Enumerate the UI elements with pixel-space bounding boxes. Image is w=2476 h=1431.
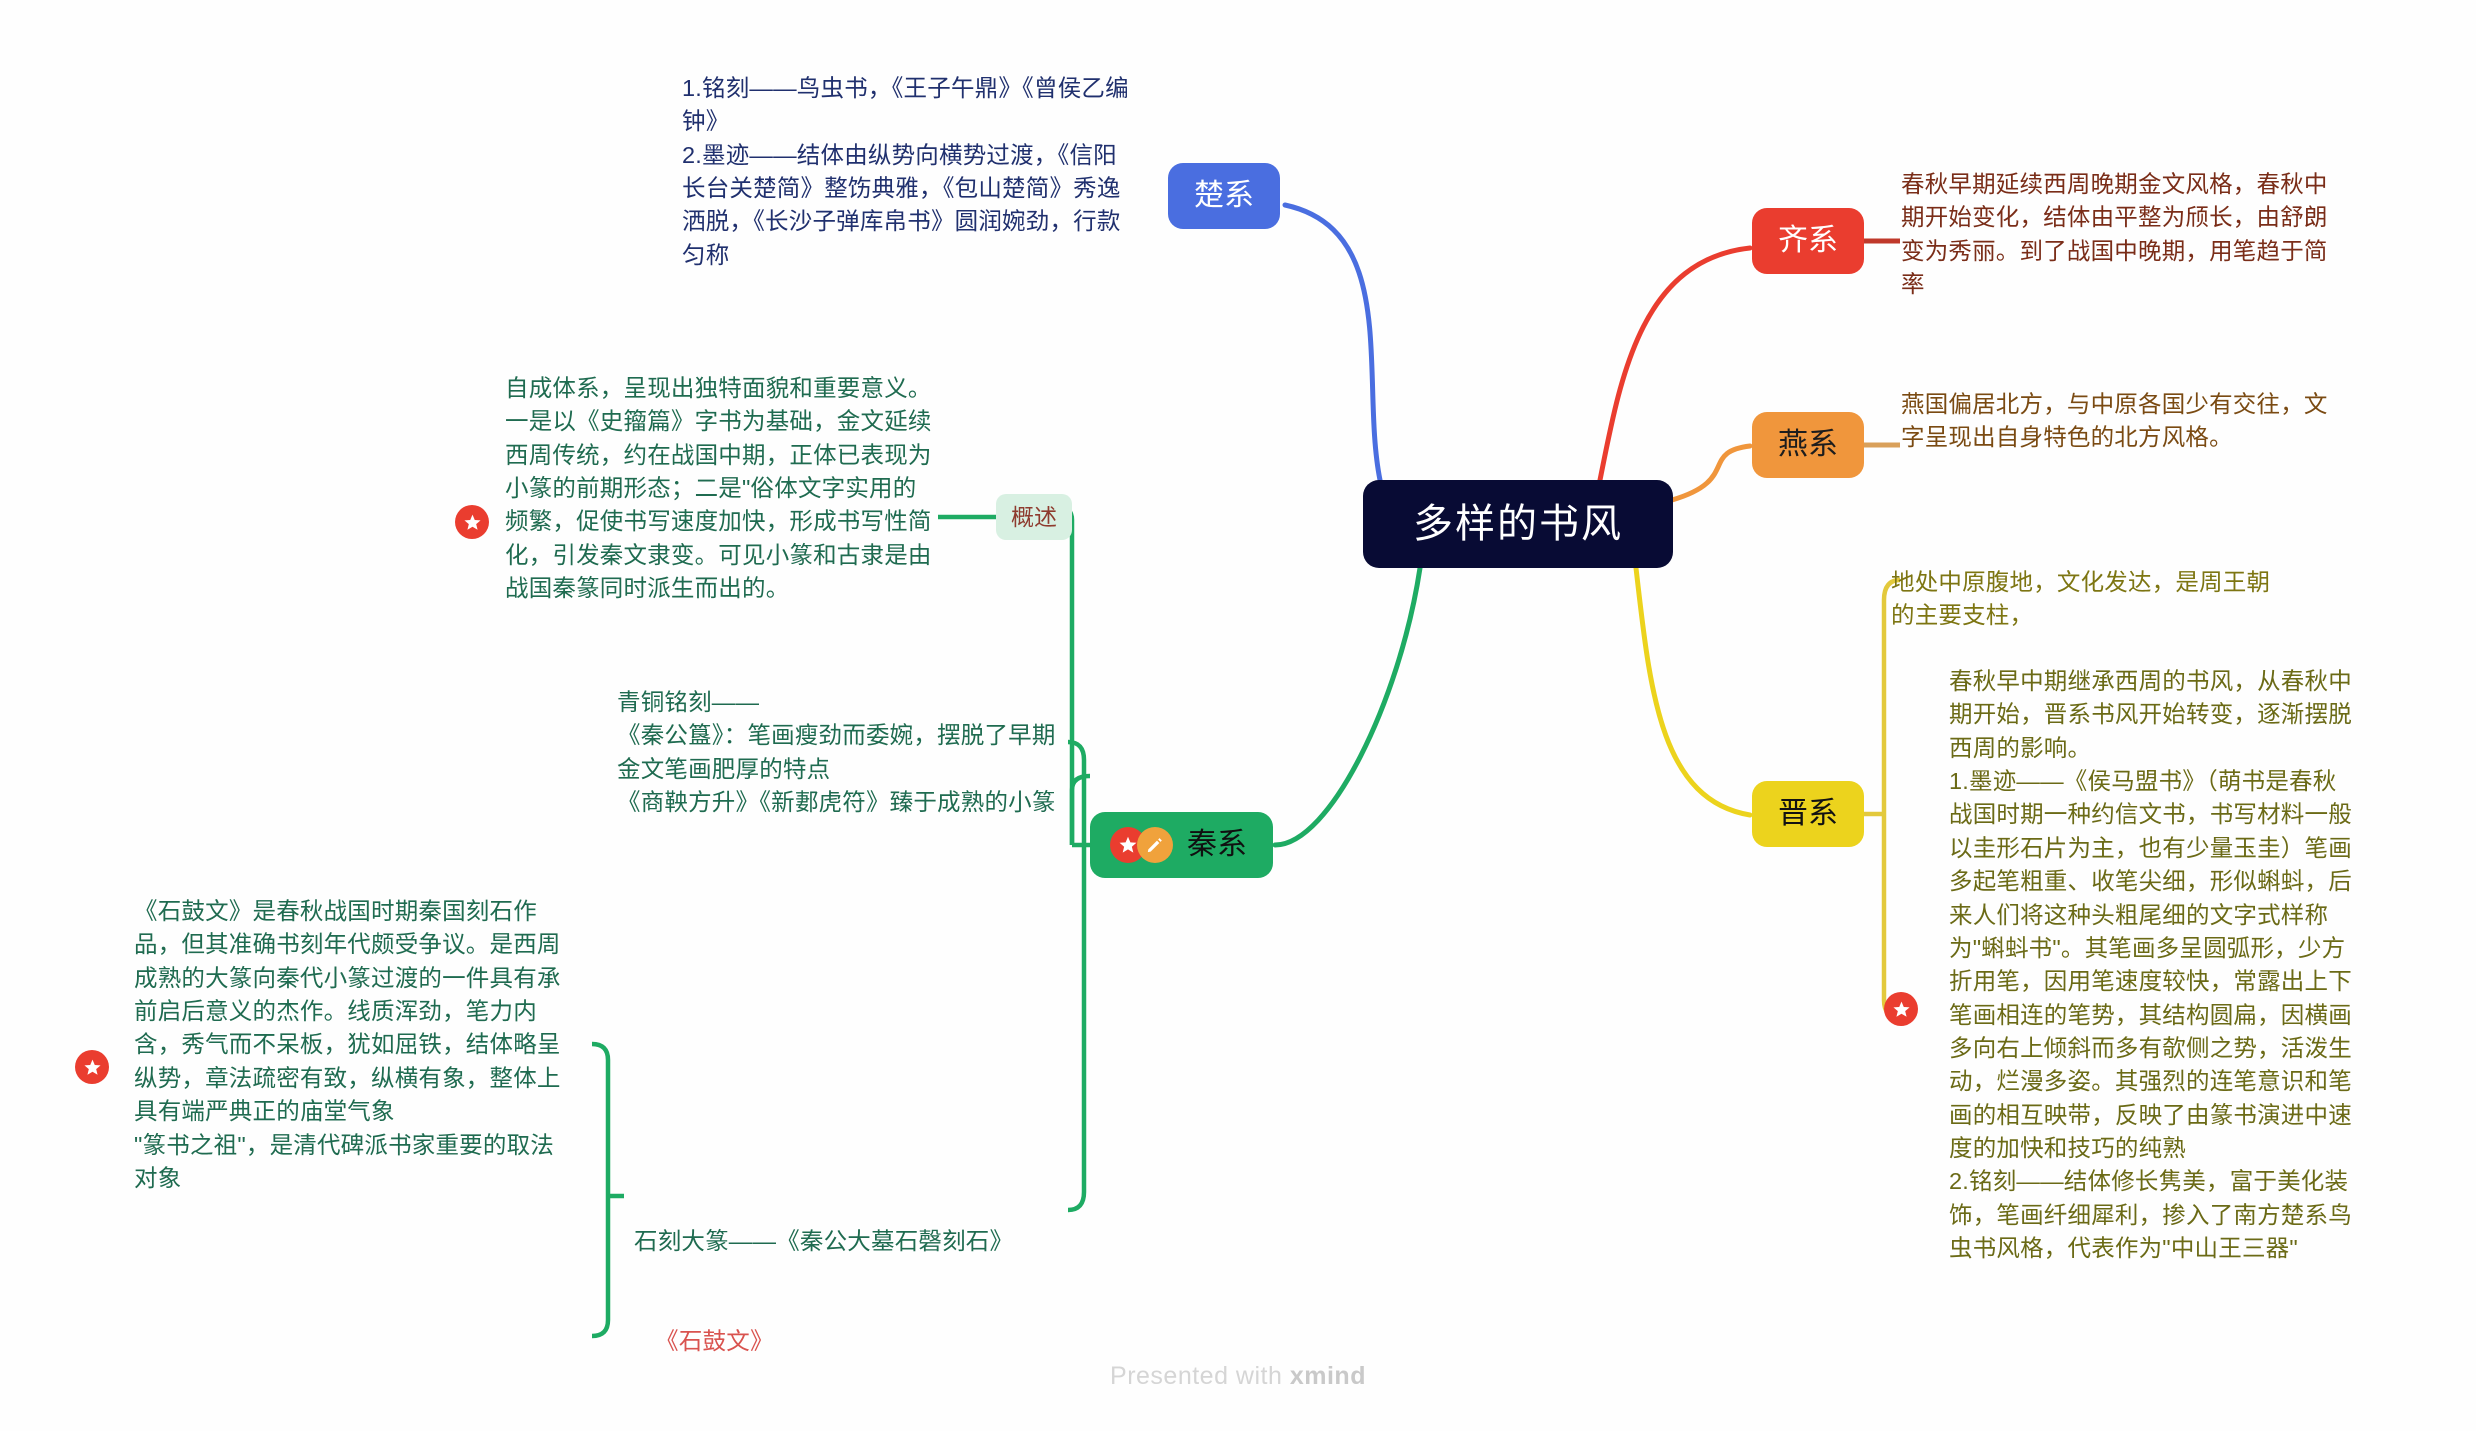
- badge-group: [1110, 827, 1173, 863]
- topic-text-shiguwen: 《石鼓文》是春秋战国时期秦国刻石作品，但其准确书刻年代颇受争议。是西周成熟的大篆…: [134, 895, 576, 1195]
- branch-node-jin[interactable]: 晋系: [1752, 781, 1864, 847]
- topic-text-bronze-inscription: 青铜铭刻—— 《秦公簋》：笔画瘦劲而委婉，摆脱了早期金文笔画肥厚的特点 《商鞅方…: [617, 686, 1069, 819]
- branch-node-chu-label: 楚系: [1194, 181, 1254, 211]
- branch-node-jin-label: 晋系: [1778, 799, 1838, 829]
- topic-text-chu: 1.铭刻——鸟虫书，《王子午鼎》《曾侯乙编钟》 2.墨迹——结体由纵势向横势过渡…: [682, 72, 1134, 272]
- branch-node-yan-label: 燕系: [1778, 430, 1838, 460]
- root-node-label: 多样的书风: [1413, 504, 1623, 544]
- topic-text-stone-seal: 石刻大篆——《秦公大墓石磬刻石》 《石鼓文》: [634, 1158, 1064, 1425]
- topic-text-jin-intro: 地处中原腹地，文化发达，是周王朝的主要支柱，: [1891, 566, 2285, 633]
- branch-node-gaishu-label: 概述: [1011, 506, 1057, 529]
- branch-node-yan[interactable]: 燕系: [1752, 412, 1864, 478]
- watermark-brand: xmind: [1290, 1362, 1366, 1390]
- branch-node-qin[interactable]: 秦系: [1090, 812, 1273, 878]
- branch-node-gaishu[interactable]: 概述: [996, 494, 1072, 540]
- star-icon[interactable]: [75, 1050, 109, 1084]
- watermark-prefix: Presented with: [1110, 1362, 1290, 1390]
- root-node[interactable]: 多样的书风: [1363, 480, 1673, 568]
- topic-text-qi: 春秋早期延续西周晚期金文风格，春秋中期开始变化，结体由平整为颀长，由舒朗变为秀丽…: [1901, 168, 2331, 301]
- branch-node-qi[interactable]: 齐系: [1752, 208, 1864, 274]
- pencil-icon[interactable]: [1137, 827, 1173, 863]
- branch-node-chu[interactable]: 楚系: [1168, 163, 1280, 229]
- stone-seal-title: 石刻大篆——《秦公大墓石磬刻石》: [634, 1225, 1064, 1258]
- topic-text-yan: 燕国偏居北方，与中原各国少有交往，文字呈现出自身特色的北方风格。: [1901, 388, 2333, 455]
- star-icon[interactable]: [1884, 992, 1918, 1026]
- stone-seal-highlight: 《石鼓文》: [634, 1325, 1064, 1358]
- star-icon[interactable]: [455, 505, 489, 539]
- mindmap-canvas: 多样的书风 楚系 齐系 燕系 晋系 秦系 概述: [0, 0, 2476, 1431]
- topic-text-jin-detail: 春秋早中期继承西周的书风，从春秋中期开始，晋系书风开始转变，逐渐摆脱西周的影响。…: [1949, 665, 2359, 1265]
- topic-text-gaishu: 自成体系，呈现出独特面貌和重要意义。一是以《史籀篇》字书为基础，金文延续西周传统…: [505, 372, 935, 606]
- branch-node-qin-label: 秦系: [1187, 830, 1247, 860]
- watermark: Presented with xmind: [0, 1362, 2476, 1391]
- branch-node-qi-label: 齐系: [1778, 226, 1838, 256]
